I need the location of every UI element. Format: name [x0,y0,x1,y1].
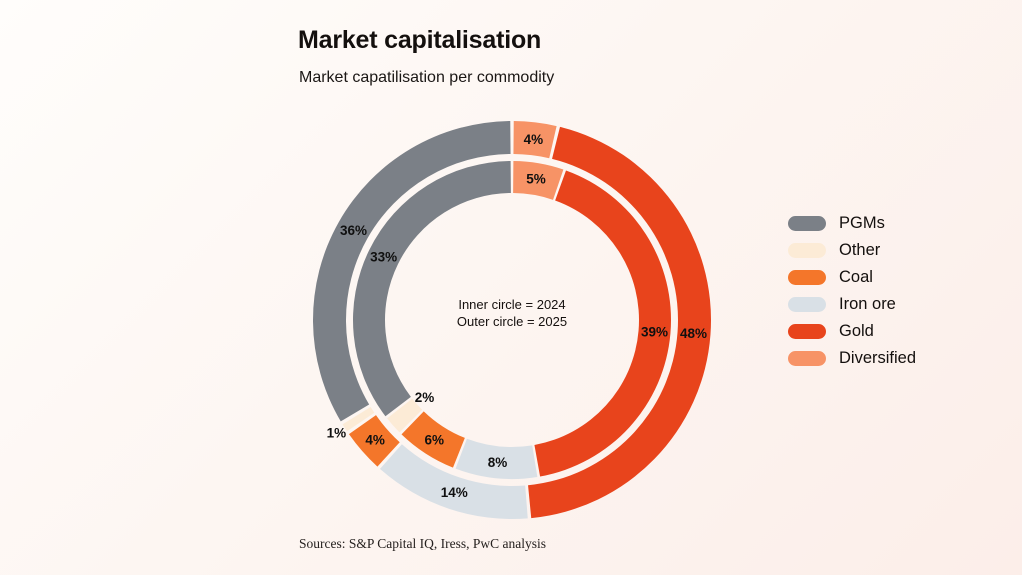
slice-value-label: 4% [524,132,544,147]
donut-ring-inner: 5%39%8%6%2%33% [353,161,671,479]
slice-value-label: 14% [441,485,468,500]
legend-swatch-icon [788,297,826,312]
legend-swatch-icon [788,270,826,285]
slice-value-label: 1% [327,426,347,441]
page-title: Market capitalisation [298,26,541,55]
legend-item-label: Coal [839,268,873,287]
chart-legend: PGMsOtherCoalIron oreGoldDiversified [788,210,998,372]
nested-donut-chart: 5%39%8%6%2%33%4%48%14%4%1%36% Inner circ… [312,120,712,520]
legend-item[interactable]: PGMs [788,210,998,237]
legend-swatch-icon [788,351,826,366]
slice-value-label: 6% [425,433,445,448]
page-subtitle: Market capatilisation per commodity [299,69,554,87]
legend-item-label: Gold [839,322,874,341]
slice-value-label: 4% [365,432,385,447]
slice-value-label: 5% [526,172,546,187]
legend-item-label: Other [839,241,880,260]
legend-item-label: Iron ore [839,295,896,314]
slice-value-label: 36% [340,223,367,238]
legend-item[interactable]: Coal [788,264,998,291]
source-note: Sources: S&P Capital IQ, Iress, PwC anal… [299,536,546,552]
legend-swatch-icon [788,243,826,258]
legend-item[interactable]: Iron ore [788,291,998,318]
legend-item[interactable]: Diversified [788,345,998,372]
legend-item-label: PGMs [839,214,885,233]
legend-item[interactable]: Gold [788,318,998,345]
chart-page: Market capitalisation Market capatilisat… [0,0,1022,575]
slice-value-label: 39% [641,325,668,340]
slice-value-label: 33% [370,250,397,265]
slice-value-label: 8% [488,455,508,470]
legend-item[interactable]: Other [788,237,998,264]
legend-swatch-icon [788,216,826,231]
slice-value-label: 2% [415,390,435,405]
legend-swatch-icon [788,324,826,339]
legend-item-label: Diversified [839,349,916,368]
slice-value-label: 48% [680,326,707,341]
donut-svg: 5%39%8%6%2%33%4%48%14%4%1%36% [312,120,712,520]
